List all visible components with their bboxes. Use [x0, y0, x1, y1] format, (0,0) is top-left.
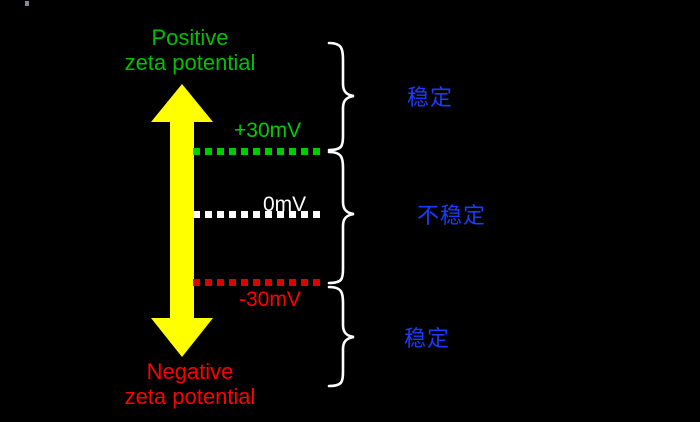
brace-middle — [329, 152, 354, 283]
threshold-label-minus-30: -30mV — [239, 288, 301, 312]
brace-bottom — [329, 287, 354, 386]
positive-label-line2: zeta potential — [100, 51, 280, 76]
brace-group — [329, 43, 354, 386]
brace-top — [329, 43, 354, 150]
negative-label-line1: Negative — [100, 360, 280, 385]
threshold-line-plus-30 — [193, 148, 323, 155]
zone-label-stable-positive: 稳定 — [407, 80, 453, 112]
negative-label-line2: zeta potential — [100, 385, 280, 410]
positive-zeta-potential-label: Positive zeta potential — [100, 26, 280, 75]
zeta-potential-diagram: Positive zeta potential Negative zeta po… — [0, 0, 700, 422]
negative-zeta-potential-label: Negative zeta potential — [100, 360, 280, 409]
threshold-line-minus-30 — [193, 279, 323, 286]
threshold-label-zero: 0mV — [263, 193, 306, 217]
threshold-label-plus-30: +30mV — [234, 119, 301, 143]
positive-label-line1: Positive — [100, 26, 280, 51]
zone-label-unstable: 不稳定 — [417, 198, 486, 230]
screen-artifact-pixel — [25, 1, 29, 6]
zone-label-stable-negative: 稳定 — [404, 321, 450, 353]
